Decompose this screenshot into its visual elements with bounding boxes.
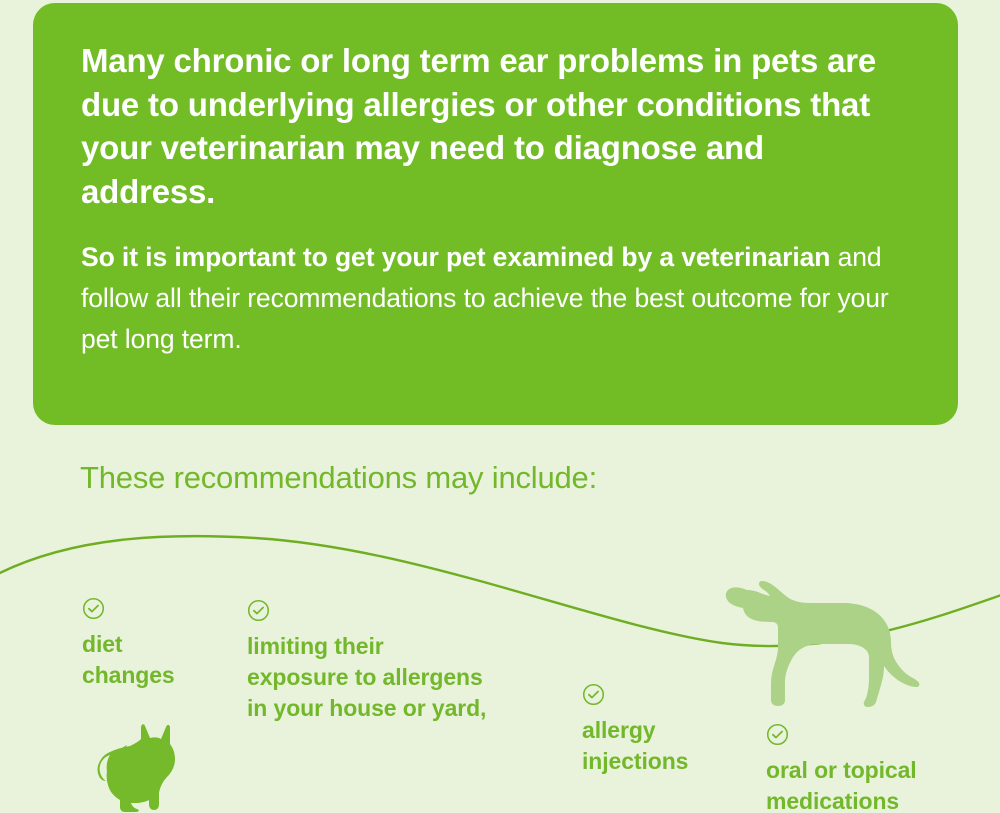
recommendation-item: limiting their exposure to allergens in … bbox=[247, 599, 486, 724]
recommendation-label: allergy injections bbox=[582, 715, 688, 777]
recommendation-item: allergy injections bbox=[582, 683, 688, 777]
check-circle-icon bbox=[82, 597, 105, 620]
callout-headline: Many chronic or long term ear problems i… bbox=[81, 39, 906, 213]
check-circle-icon bbox=[247, 599, 270, 622]
recommendations-heading: These recommendations may include: bbox=[80, 458, 597, 498]
check-circle-icon bbox=[766, 723, 789, 746]
recommendation-item: diet changes bbox=[82, 597, 175, 691]
cat-silhouette bbox=[97, 722, 175, 813]
callout-body: So it is important to get your pet exami… bbox=[81, 237, 906, 360]
infographic-page: Many chronic or long term ear problems i… bbox=[0, 0, 1000, 813]
check-circle-icon bbox=[582, 683, 605, 706]
recommendation-label: diet changes bbox=[82, 629, 175, 691]
recommendation-label: limiting their exposure to allergens in … bbox=[247, 631, 486, 724]
recommendation-label: oral or topical medications bbox=[766, 755, 917, 813]
callout-card: Many chronic or long term ear problems i… bbox=[33, 3, 958, 425]
dog-silhouette bbox=[716, 560, 924, 712]
recommendation-item: oral or topical medications bbox=[766, 723, 917, 813]
callout-body-emphasis: So it is important to get your pet exami… bbox=[81, 242, 830, 272]
